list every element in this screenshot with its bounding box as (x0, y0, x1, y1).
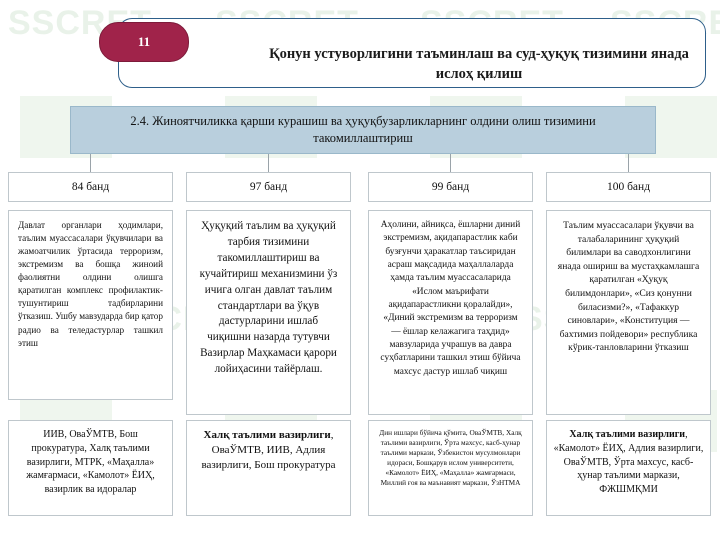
band-text-100: Таълим муассасалари ўқувчи ва талабалари… (546, 210, 711, 415)
column-100: 100 банд Таълим муассасалари ўқувчи ва т… (546, 172, 711, 415)
band-text-97: Ҳуқуқий таълим ва ҳуқуқий тарбия тизимин… (186, 210, 351, 415)
executors-84: ИИВ, ОваЎМТВ, Бош прокуратура, Халқ таъл… (8, 420, 173, 516)
section-subtitle: 2.4. Жиноятчиликка қарши курашиш ва ҳуқу… (70, 106, 656, 154)
section-number-badge: 11 (99, 22, 189, 62)
connector-line (90, 154, 91, 172)
page-title: Қонун устуворлигини таъминлаш ва суд-ҳуқ… (269, 45, 689, 84)
column-97: 97 банд Ҳуқуқий таълим ва ҳуқуқий тарбия… (186, 172, 351, 415)
band-header-100: 100 банд (546, 172, 711, 202)
column-99: 99 банд Аҳолини, айниқса, ёшларни диний … (368, 172, 533, 415)
executors-97: Халқ таълими вазирлиги, ОваЎМТВ, ИИВ, Ад… (186, 420, 351, 516)
executors-100: Халқ таълими вазирлиги, «Камолот» ЁИҲ, А… (546, 420, 711, 516)
slide-stage: Қонун устуворлигини таъминлаш ва суд-ҳуқ… (0, 0, 720, 540)
connector-line (628, 154, 629, 172)
connector-line (268, 154, 269, 172)
executors-97-lead: Халқ таълими вазирлиги (204, 429, 331, 441)
connector-line (450, 154, 451, 172)
band-text-99: Аҳолини, айниқса, ёшларни диний экстреми… (368, 210, 533, 415)
column-84: 84 банд Давлат органлари ҳодимлари, таъл… (8, 172, 173, 400)
band-header-99: 99 банд (368, 172, 533, 202)
band-header-84: 84 банд (8, 172, 173, 202)
executors-99: Дин ишлари бўйича қўмита, ОваЎМТВ, Халқ … (368, 420, 533, 516)
band-header-97: 97 банд (186, 172, 351, 202)
executors-100-lead: Халқ таълими вазирлиги (569, 429, 685, 440)
slide-title-container: Қонун устуворлигини таъминлаш ва суд-ҳуқ… (118, 18, 706, 88)
band-text-84: Давлат органлари ҳодимлари, таълим муасс… (8, 210, 173, 400)
